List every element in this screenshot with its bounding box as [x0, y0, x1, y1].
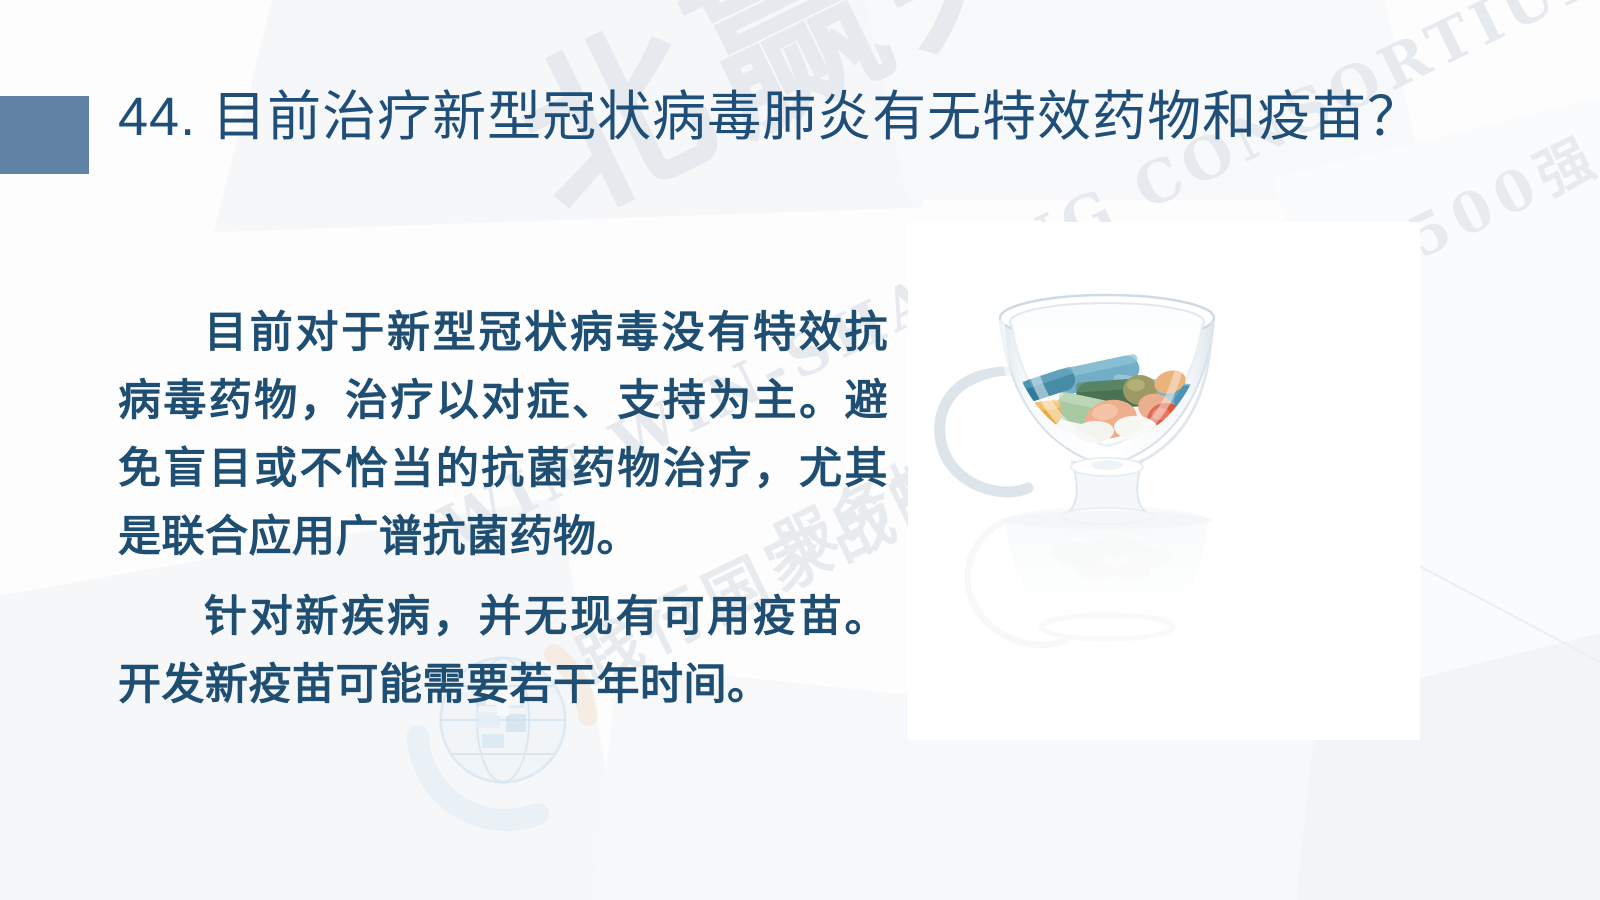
title-accent-block: [0, 96, 89, 174]
body-content: 目前对于新型冠状病毒没有特效抗病毒药物，治疗以对症、支持为主。避免盲目或不恰当的…: [118, 300, 888, 720]
illustration-panel: [908, 222, 1420, 740]
slide-root: 北赢共赢联合体 WIN-WIN-SHARING CONSORTIUM 践行国家战…: [0, 0, 1600, 900]
page-title: 44. 目前治疗新型冠状病毒肺炎有无特效药物和疫苗？: [118, 90, 1568, 144]
body-paragraph-2: 针对新疾病，并无现有可用疫苗。开发新疫苗可能需要若干年时间。: [118, 584, 888, 720]
illustration-clip: [908, 222, 1420, 740]
glass-cup-with-pills-image: [908, 222, 1420, 740]
body-paragraph-1: 目前对于新型冠状病毒没有特效抗病毒药物，治疗以对症、支持为主。避免盲目或不恰当的…: [118, 300, 888, 572]
